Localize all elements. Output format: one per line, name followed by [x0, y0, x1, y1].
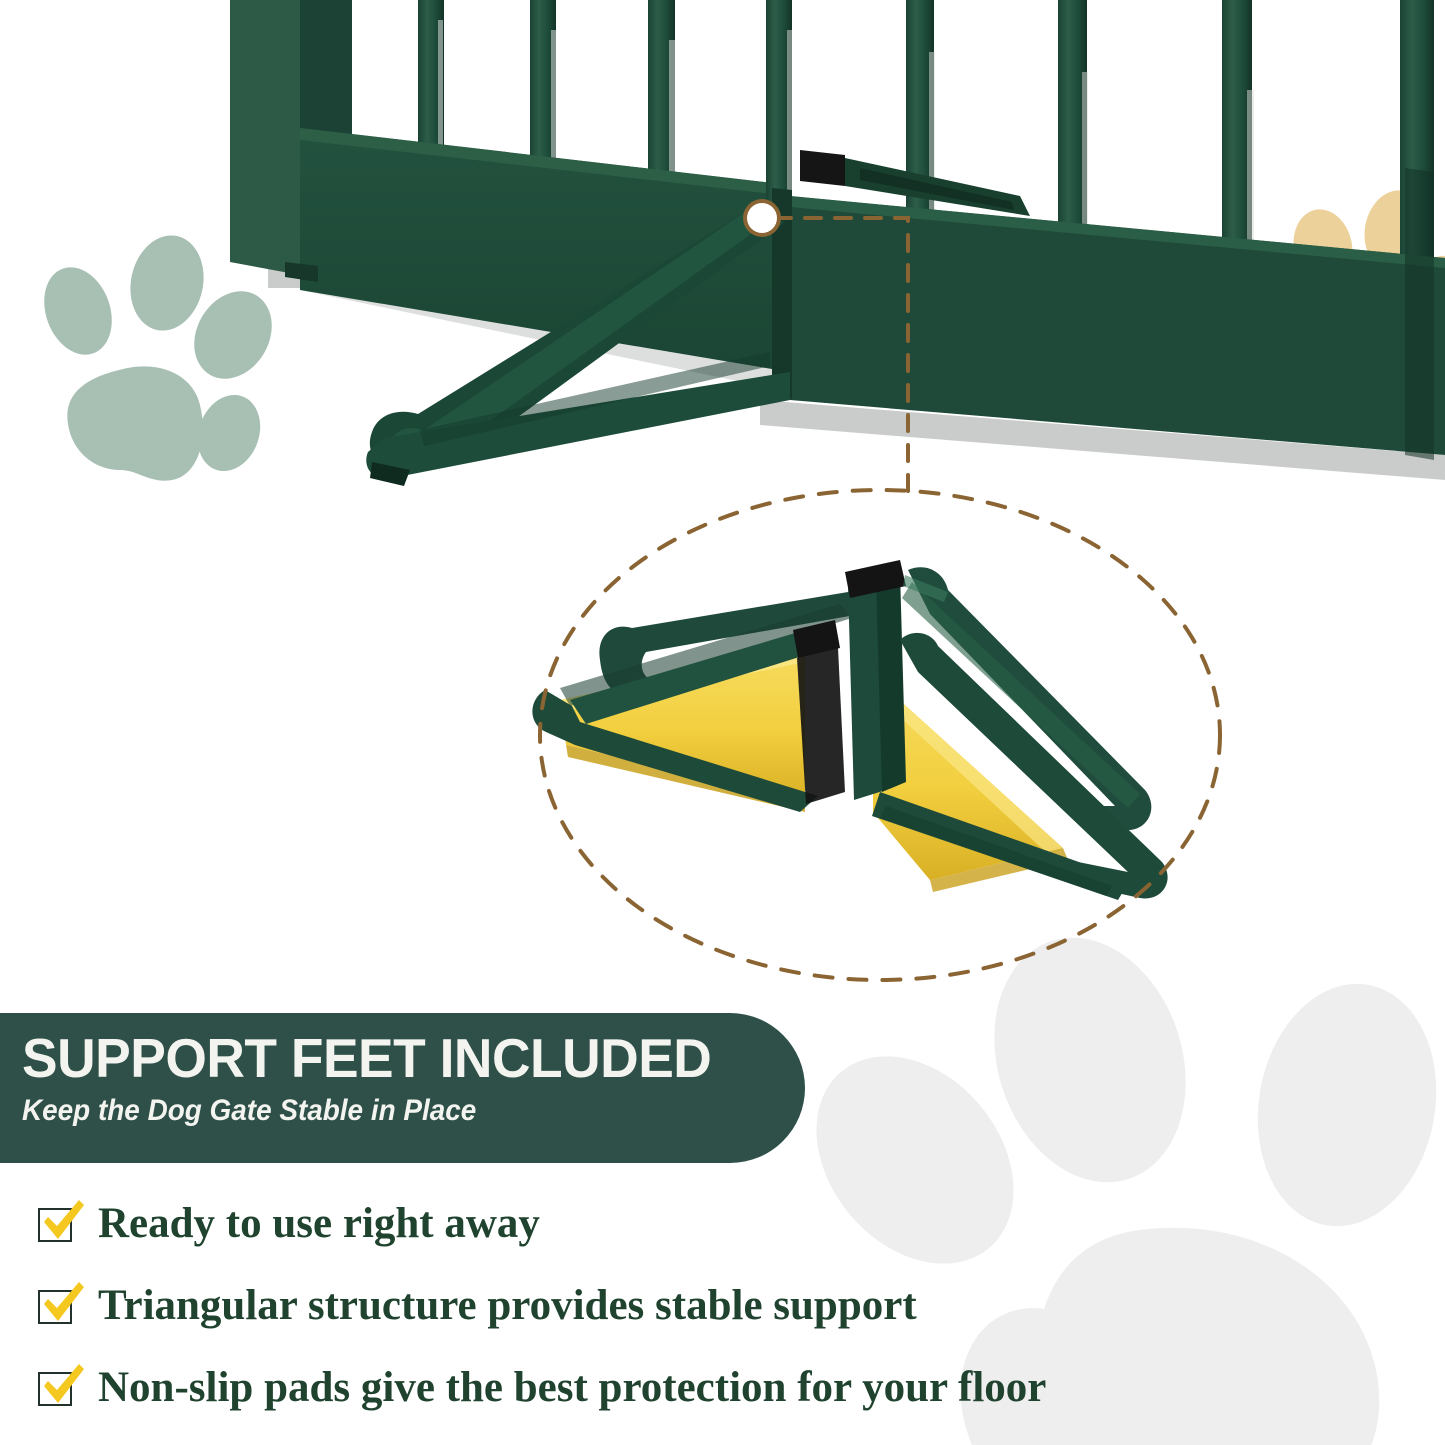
list-item-label: Triangular structure provides stable sup…	[98, 1281, 917, 1331]
feature-list: Ready to use right away Triangular struc…	[38, 1188, 1218, 1434]
checkbox-checked-icon	[38, 1286, 78, 1326]
banner-subtitle: Keep the Dog Gate Stable in Place	[22, 1093, 750, 1129]
banner-title: SUPPORT FEET INCLUDED	[22, 1027, 782, 1089]
checkbox-checked-icon	[38, 1204, 78, 1244]
list-item: Ready to use right away	[38, 1188, 1218, 1260]
list-item: Non-slip pads give the best protection f…	[38, 1352, 1218, 1424]
text-content: SUPPORT FEET INCLUDED Keep the Dog Gate …	[0, 0, 1445, 1445]
list-item: Triangular structure provides stable sup…	[38, 1270, 1218, 1342]
list-item-label: Non-slip pads give the best protection f…	[98, 1363, 1046, 1413]
product-infographic: SUPPORT FEET INCLUDED Keep the Dog Gate …	[0, 0, 1445, 1445]
headline-banner: SUPPORT FEET INCLUDED Keep the Dog Gate …	[0, 1013, 805, 1163]
checkbox-checked-icon	[38, 1368, 78, 1408]
list-item-label: Ready to use right away	[98, 1199, 540, 1249]
